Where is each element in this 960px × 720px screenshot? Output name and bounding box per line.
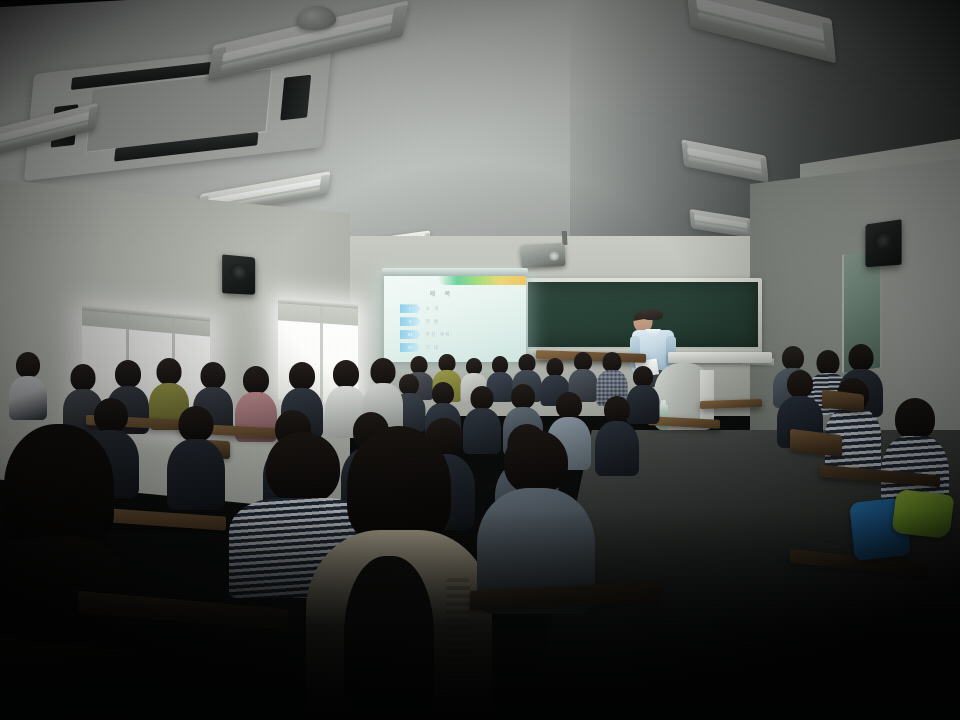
- wall-speaker-left: [222, 254, 255, 294]
- slide-bullet-tab: I: [400, 304, 421, 313]
- student-mid-13: [594, 396, 640, 474]
- lecture-hall-photo: 제 목 I 소 개 II 현 황 III 추진 계획 IV 기 대: [0, 0, 960, 720]
- slide-title: 제 목: [429, 289, 454, 298]
- student-near-2: [166, 406, 226, 506]
- projector: [542, 242, 587, 267]
- slide-bullet-text: 추진 계획: [426, 332, 451, 338]
- projection-screen-housing: [382, 268, 528, 276]
- slide-bullet-text: 현 황: [426, 319, 440, 325]
- slide-agenda-row: III 추진 계획: [400, 330, 451, 339]
- slide-bullet-tab: III: [400, 330, 421, 339]
- slide-agenda-row: II 현 황: [400, 317, 440, 326]
- projection-screen: 제 목 I 소 개 II 현 황 III 추진 계획 IV 기 대: [384, 276, 526, 362]
- slide-bullet-tab: IV: [400, 343, 421, 352]
- student-white-shirt-far-left: [8, 352, 48, 418]
- slide-agenda-row: IV 기 대: [400, 343, 440, 352]
- foreground-shadow: [0, 510, 960, 720]
- wall-speaker-right: [865, 219, 901, 267]
- slide-bullet-text: 소 개: [426, 306, 440, 312]
- slide-bullet-text: 기 대: [426, 345, 440, 351]
- slide-accent-stripe: [438, 276, 526, 285]
- slide-agenda-row: I 소 개: [400, 304, 440, 313]
- slide-bullet-tab: II: [400, 317, 421, 326]
